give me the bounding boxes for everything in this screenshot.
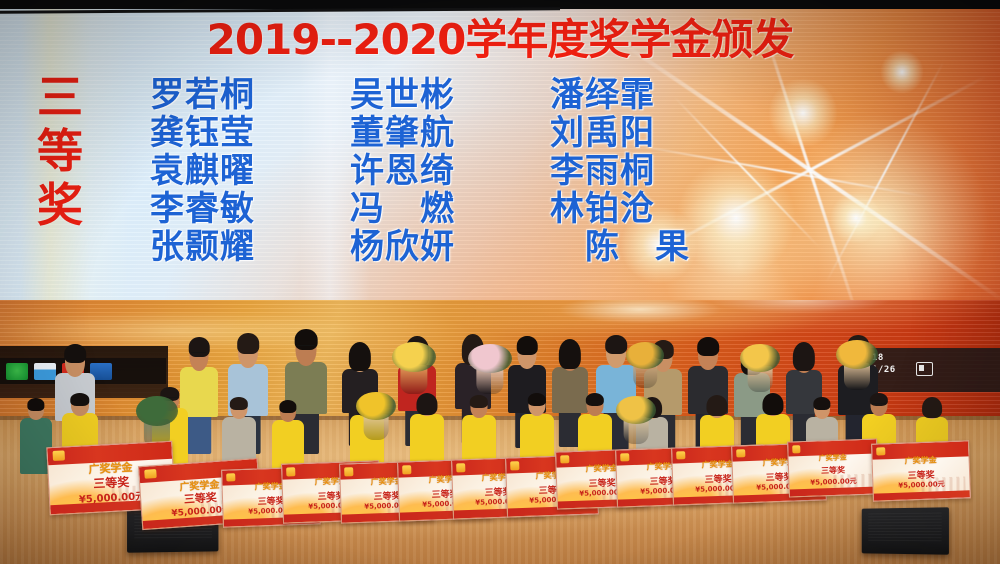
slide-title: 2019--2020学年度奖学金颁发 xyxy=(0,6,1000,67)
bouquet xyxy=(356,392,396,440)
school-emblem-icon xyxy=(456,463,465,472)
hair xyxy=(237,333,259,353)
prize-char-2: 等 xyxy=(37,128,83,174)
hair xyxy=(586,393,604,407)
school-emblem-icon xyxy=(792,445,801,453)
hair xyxy=(605,335,627,355)
school-emblem-icon xyxy=(226,473,236,482)
hair xyxy=(416,393,437,415)
winner-name: 罗若桐 xyxy=(150,76,350,114)
school-emblem-icon xyxy=(620,453,629,462)
school-emblem-icon xyxy=(144,469,156,479)
bouquet xyxy=(740,344,780,392)
bouquet xyxy=(616,396,656,444)
file-explorer-icon xyxy=(34,363,56,380)
eyeglasses xyxy=(872,403,886,407)
bouquet xyxy=(392,342,436,394)
winner-name: 杨欣妍 xyxy=(350,228,550,266)
prize-level-vertical-label: 三 等 奖 xyxy=(22,74,98,228)
prize-char-1: 三 xyxy=(37,74,83,120)
winner-name: 冯 燃 xyxy=(350,190,550,228)
auditorium-stage-area: 18 1/26 广奖学金三等奖¥5,000.00元广奖学金三等奖¥5,000.0… xyxy=(0,300,1000,564)
winner-name: 董肇航 xyxy=(350,114,550,152)
hair xyxy=(70,393,89,406)
winner-name: 龚钰莹 xyxy=(150,114,350,152)
hair xyxy=(27,398,44,411)
school-emblem-icon xyxy=(560,455,569,464)
hair xyxy=(813,397,830,410)
school-emblem-icon xyxy=(510,461,519,470)
school-emblem-icon xyxy=(52,451,65,462)
winner-name: 袁麒曜 xyxy=(150,152,350,190)
bouquet-flowers xyxy=(136,396,178,426)
eyeglasses xyxy=(191,352,206,356)
hair xyxy=(697,337,719,356)
bouquet xyxy=(836,340,878,390)
winner-names-grid: 罗若桐 吴世彬 潘绎霏 龚钰莹 董肇航 刘禹阳 袁麒曜 许恩绮 李雨桐 李睿敏 … xyxy=(150,76,770,266)
hair xyxy=(559,339,581,369)
winner-name: 张颢耀 xyxy=(150,228,350,266)
winner-name: 李雨桐 xyxy=(550,152,760,190)
winner-name: 林铂沧 xyxy=(550,190,760,228)
hair xyxy=(470,395,488,408)
hair xyxy=(517,336,538,355)
hair xyxy=(762,393,783,415)
winner-name: 吴世彬 xyxy=(350,76,550,114)
screenshot-root: 2019--2020学年度奖学金颁发 三 等 奖 罗若桐 吴世彬 潘绎霏 龚钰莹… xyxy=(0,0,1000,564)
bouquet-flowers xyxy=(616,396,656,424)
frame-number: 18 xyxy=(872,352,1000,364)
hair xyxy=(706,395,727,417)
hair xyxy=(528,393,546,407)
eyeglasses xyxy=(298,345,315,349)
hair xyxy=(279,400,296,413)
bouquet-flowers xyxy=(356,392,396,420)
school-emblem-icon xyxy=(736,449,745,458)
bouquet-flowers xyxy=(740,344,780,372)
bouquet-flowers xyxy=(836,340,878,369)
playback-frame-icon xyxy=(916,362,933,376)
hair xyxy=(793,342,815,371)
bouquet-flowers xyxy=(468,344,512,373)
wechat-icon xyxy=(6,363,28,380)
cheque-banner: 广奖学金三等奖¥5,000.00元 xyxy=(871,440,971,501)
hair xyxy=(349,342,371,371)
school-emblem-icon xyxy=(676,451,685,460)
camera-info-overlay: 18 1/26 xyxy=(864,348,1000,392)
shutter-speed: 1/26 xyxy=(872,364,1000,376)
winner-name: 潘绎霏 xyxy=(550,76,760,114)
school-emblem-icon xyxy=(876,447,886,456)
hair xyxy=(230,397,248,410)
bouquet-flowers xyxy=(626,342,664,369)
hair xyxy=(64,344,86,363)
cheque-banner: 广奖学金三等奖¥5,000.00元 xyxy=(787,438,879,497)
projection-screen: 2019--2020学年度奖学金颁发 三 等 奖 罗若桐 吴世彬 潘绎霏 龚钰莹… xyxy=(0,0,1000,300)
winner-name: 许恩绮 xyxy=(350,152,550,190)
hair xyxy=(922,397,942,418)
bouquet xyxy=(626,342,664,388)
winner-name: 陈 果 xyxy=(550,228,760,266)
bouquet xyxy=(468,344,512,394)
bouquet-flowers xyxy=(392,342,436,372)
floor-monitor-right xyxy=(862,507,949,554)
cheque-scholarship-title: 广奖学金 xyxy=(788,451,876,464)
winner-name: 刘禹阳 xyxy=(550,114,760,152)
school-emblem-icon xyxy=(286,467,296,476)
school-emblem-icon xyxy=(344,467,353,476)
school-emblem-icon xyxy=(402,465,411,474)
winner-name: 李睿敏 xyxy=(150,190,350,228)
prize-char-3: 奖 xyxy=(37,182,83,228)
